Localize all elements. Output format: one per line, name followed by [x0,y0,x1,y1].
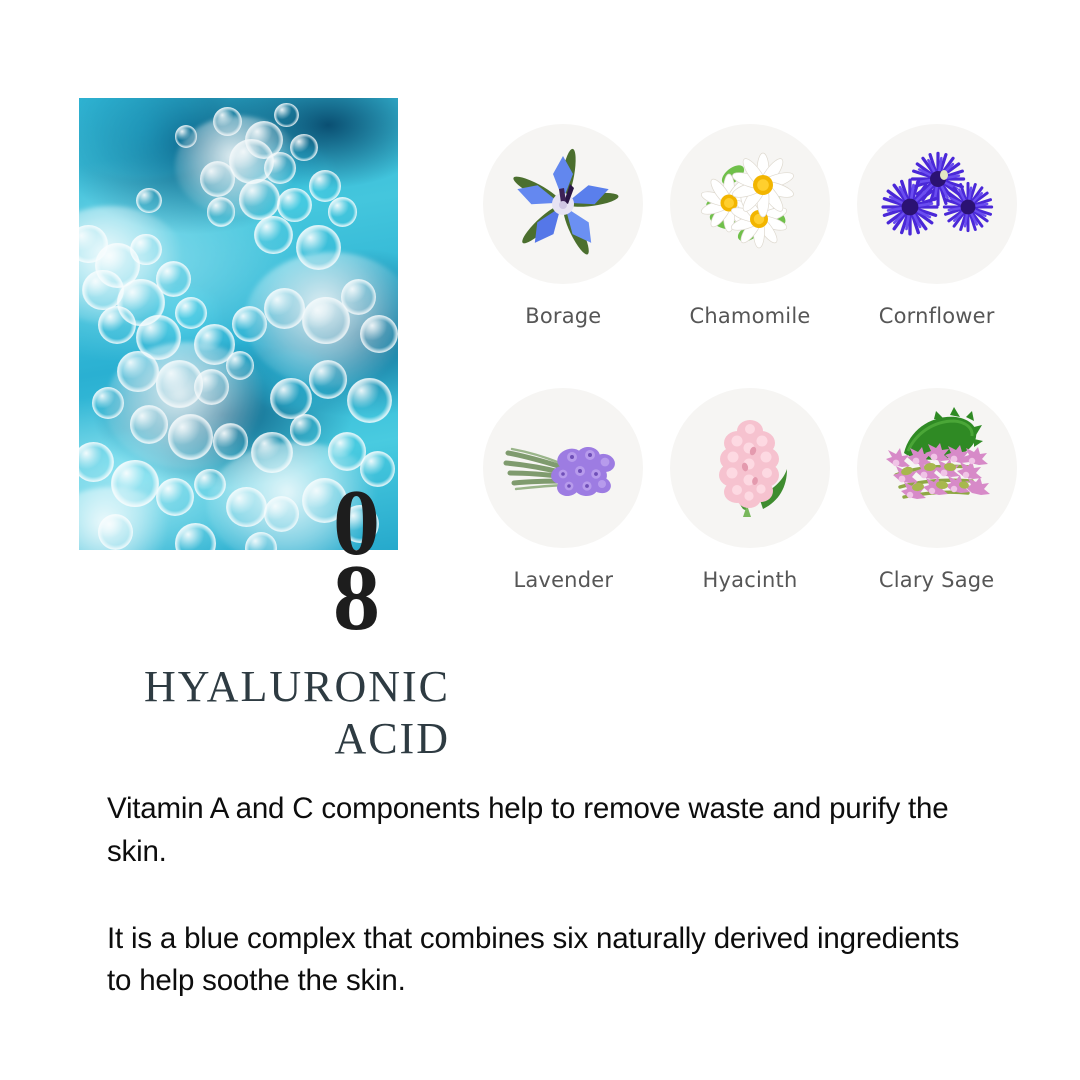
description-block: Vitamin A and C components help to remov… [107,788,977,1003]
description-paragraph-2: It is a blue complex that combines six n… [107,918,977,1004]
ingredient-grid: Borage [470,124,1030,592]
ingredient-disc [857,388,1017,548]
ingredient-item-hyacinth[interactable]: Hyacinth [657,388,844,592]
clary-sage-flower-icon [874,405,1000,531]
ingredient-item-lavender[interactable]: Lavender [470,388,657,592]
step-number-digit-2: 8 [333,561,453,636]
page-title: HYALURONIC ACID [60,661,450,765]
ingredient-disc [483,124,643,284]
ingredient-item-cornflower[interactable]: Cornflower [843,124,1030,328]
chamomile-flower-icon [687,141,813,267]
ingredient-disc [857,124,1017,284]
hyacinth-flower-icon [687,405,813,531]
borage-flower-icon [500,141,626,267]
page-title-line-2: ACID [334,714,450,763]
ingredient-label: Hyacinth [703,568,798,592]
ingredient-label: Clary Sage [879,568,995,592]
description-paragraph-1: Vitamin A and C components help to remov… [107,788,977,874]
ingredient-disc [483,388,643,548]
ingredient-disc [670,124,830,284]
ingredient-label: Lavender [513,568,613,592]
page-title-line-1: HYALURONIC [144,662,450,711]
ingredient-label: Cornflower [879,304,995,328]
ingredient-label: Borage [525,304,601,328]
step-number: 0 8 [333,486,453,636]
cornflower-flower-icon [874,141,1000,267]
ingredient-disc [670,388,830,548]
ingredient-item-borage[interactable]: Borage [470,124,657,328]
ingredient-label: Chamomile [689,304,810,328]
ingredient-item-clary-sage[interactable]: Clary Sage [843,388,1030,592]
ingredient-item-chamomile[interactable]: Chamomile [657,124,844,328]
lavender-flower-icon [500,405,626,531]
